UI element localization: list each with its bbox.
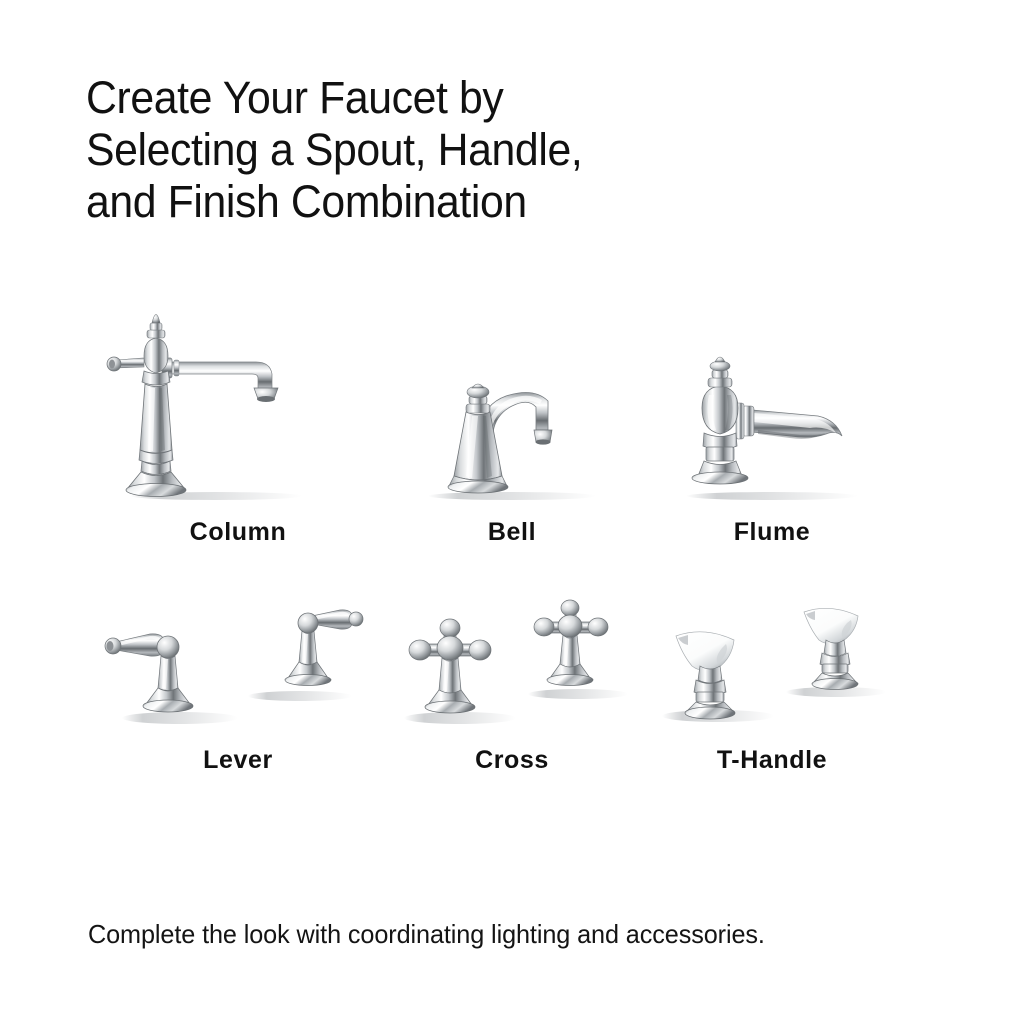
spout-option-label: Flume <box>622 518 922 547</box>
footer-note: Complete the look with coordinating ligh… <box>88 918 765 950</box>
page-title: Create Your Faucet by Selecting a Spout,… <box>86 72 751 228</box>
handle-option-label: T-Handle <box>622 746 922 775</box>
spout-options-row: Column <box>0 300 1024 570</box>
handle-option-lever[interactable]: Lever <box>88 600 388 820</box>
handle-option-label: Lever <box>88 746 388 775</box>
spout-option-flume[interactable]: Flume <box>622 300 922 570</box>
handle-option-cross[interactable]: Cross <box>362 600 662 820</box>
faucet-handle-lever-icon <box>88 600 388 730</box>
faucet-spout-flume-icon <box>622 300 922 500</box>
spout-option-bell[interactable]: Bell <box>362 300 662 570</box>
faucet-spout-column-icon <box>88 300 388 500</box>
handle-options-row: Lever <box>0 600 1024 820</box>
spout-option-column[interactable]: Column <box>88 300 388 570</box>
faucet-handle-cross-icon <box>362 600 662 730</box>
spout-option-label: Column <box>88 518 388 547</box>
page-title-line-2: Selecting a Spout, Handle, <box>86 124 751 176</box>
handle-option-label: Cross <box>362 746 662 775</box>
handle-option-t-handle[interactable]: T-Handle <box>622 600 922 820</box>
page-title-line-3: and Finish Combination <box>86 176 751 228</box>
faucet-handle-t-handle-icon <box>622 600 922 730</box>
spout-option-label: Bell <box>362 518 662 547</box>
faucet-spout-bell-icon <box>362 300 662 500</box>
faucet-configurator-page: Create Your Faucet by Selecting a Spout,… <box>0 0 1024 1024</box>
page-title-line-1: Create Your Faucet by <box>86 72 751 124</box>
